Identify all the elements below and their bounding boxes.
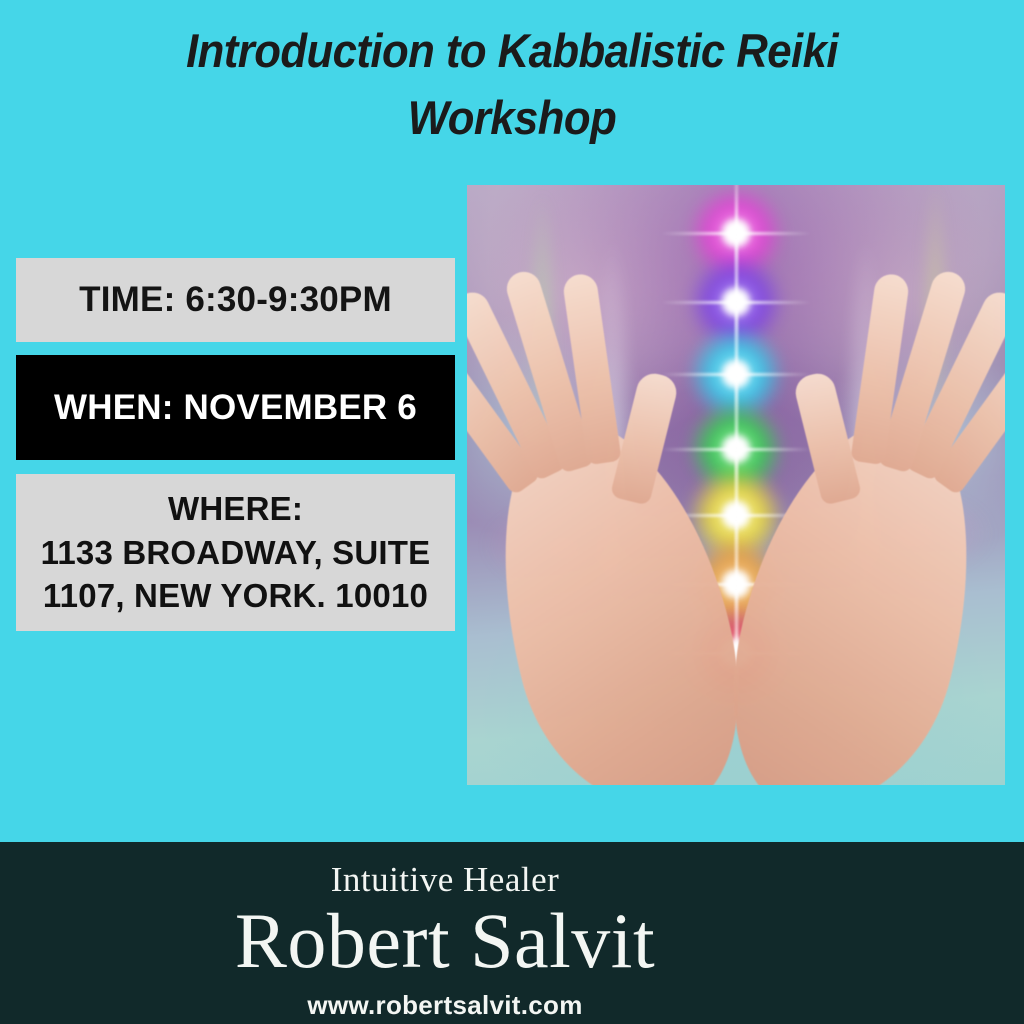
info-box-where: WHERE: 1133 BROADWAY, SUITE 1107, NEW YO… xyxy=(16,474,455,631)
when-label: WHEN: NOVEMBER 6 xyxy=(54,388,417,428)
chakra-hands-photo xyxy=(467,185,1005,785)
footer-name: Robert Salvit xyxy=(0,902,890,980)
footer-text-group: Intuitive Healer Robert Salvit www.rober… xyxy=(0,842,890,1024)
flyer-canvas: Introduction to Kabbalistic Reiki Worksh… xyxy=(0,0,1024,1024)
footer-website[interactable]: www.robertsalvit.com xyxy=(0,990,890,1021)
where-address-line-1: 1133 BROADWAY, SUITE xyxy=(41,531,431,575)
footer-bar: Intuitive Healer Robert Salvit www.rober… xyxy=(0,842,1024,1024)
page-title: Introduction to Kabbalistic Reiki Worksh… xyxy=(92,18,933,151)
info-box-when: WHEN: NOVEMBER 6 xyxy=(16,355,455,460)
info-box-time: TIME: 6:30-9:30PM xyxy=(16,258,455,342)
where-label: WHERE: xyxy=(168,487,303,531)
where-address-line-2: 1107, NEW YORK. 10010 xyxy=(43,574,428,618)
time-label: TIME: 6:30-9:30PM xyxy=(79,280,392,320)
footer-tagline: Intuitive Healer xyxy=(0,860,890,900)
